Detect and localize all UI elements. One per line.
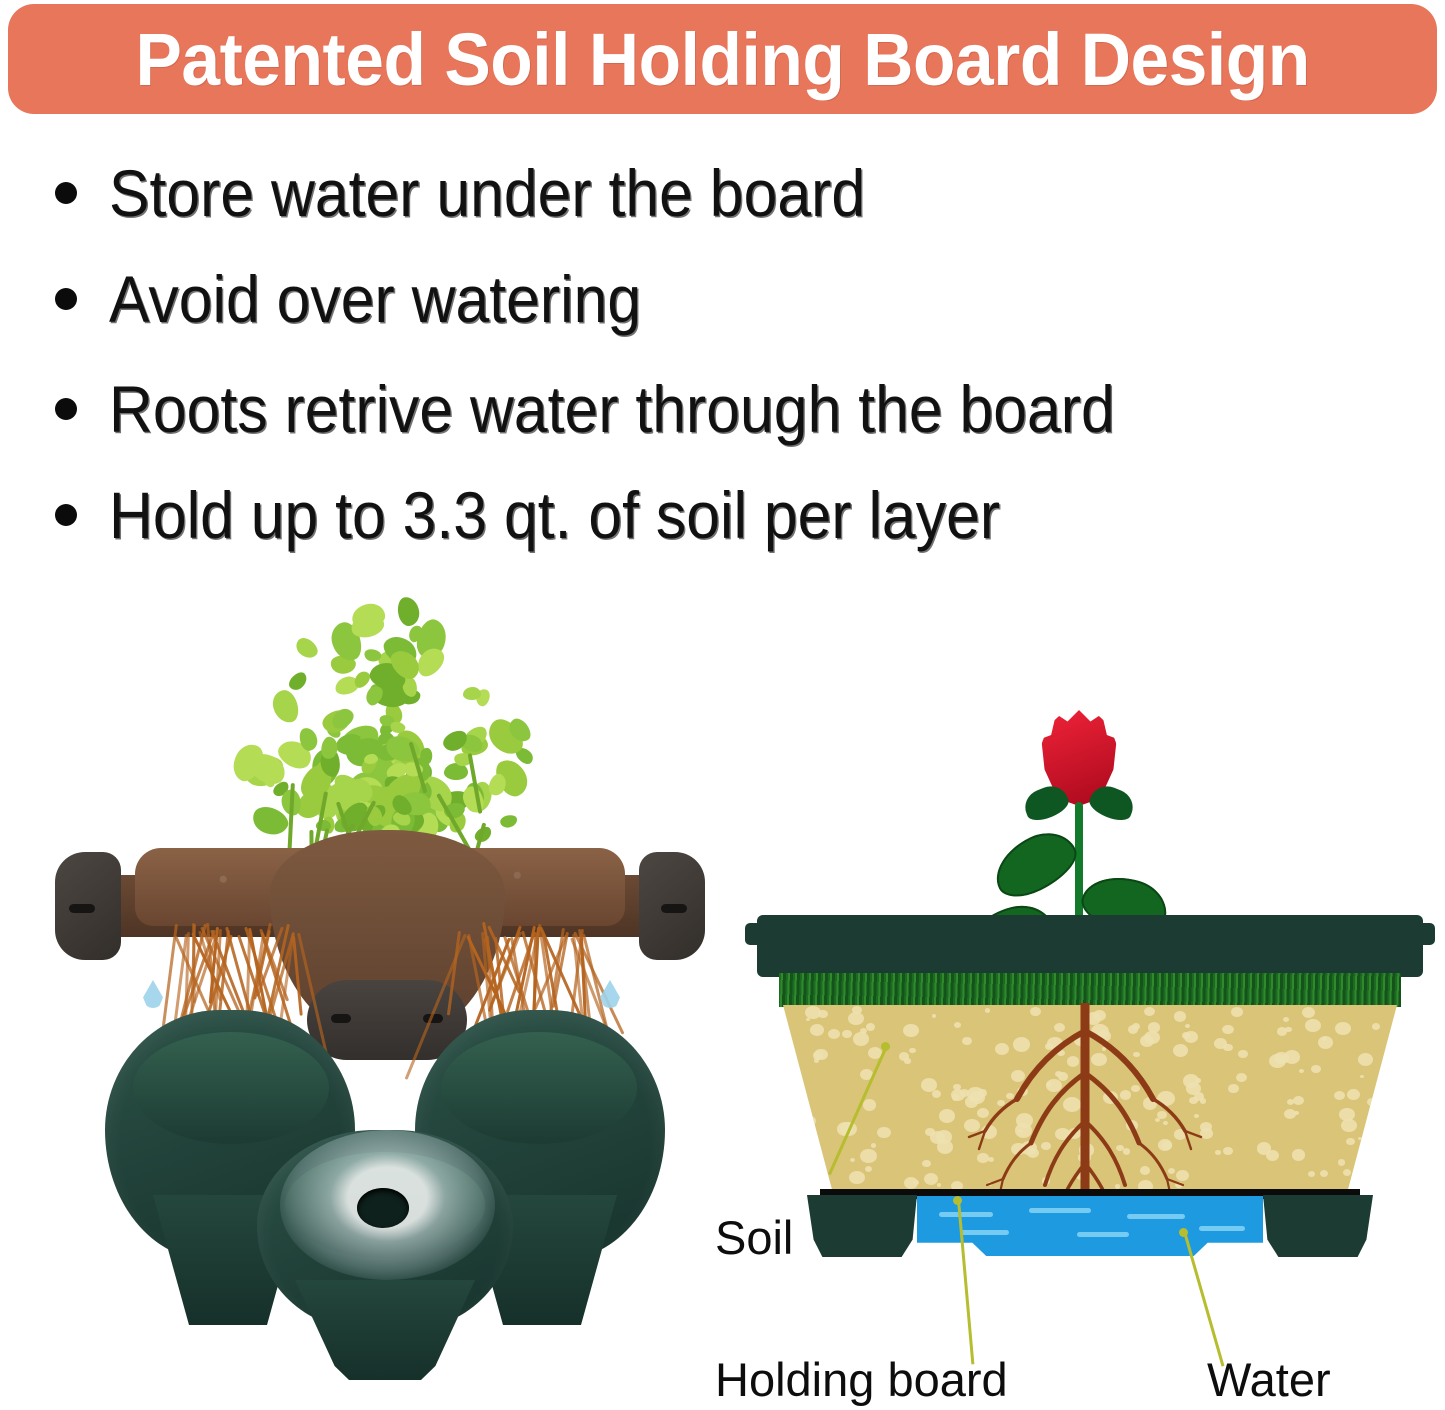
grass-layer: [779, 973, 1401, 1007]
soil-speck: [909, 1048, 916, 1054]
soil-speck: [797, 1144, 809, 1154]
soil-speck: [1311, 1065, 1321, 1074]
feature-text: Roots retrive water through the board: [109, 371, 1115, 447]
leaf-blob: [499, 813, 518, 828]
figures-area: Soil Holding board Water: [0, 575, 1445, 1405]
water-wave: [1029, 1208, 1091, 1213]
soil-speck: [800, 1152, 810, 1160]
soil-speck: [1283, 1017, 1289, 1022]
product-photo-stacking-planter: [50, 580, 710, 1380]
soil-speck: [903, 1024, 918, 1037]
soil-speck: [1381, 1068, 1389, 1075]
soil-speck: [1318, 1036, 1333, 1049]
soil-speck: [1358, 1137, 1362, 1140]
board-slot-icon: [69, 904, 95, 913]
soil-speck: [1343, 1169, 1351, 1176]
leaf-blob: [463, 687, 481, 700]
soil-speck: [1285, 1027, 1291, 1032]
soil-speck: [848, 1012, 864, 1025]
list-item: Roots retrive water through the board: [55, 361, 1202, 457]
planter-lobe-rim-right: [441, 1032, 637, 1144]
cross-section-diagram: Soil Holding board Water: [735, 580, 1445, 1410]
soil-speck: [1299, 1069, 1304, 1073]
soil-speck: [899, 1052, 909, 1061]
soil-speck: [1360, 1143, 1366, 1148]
soil-speck: [1346, 1138, 1354, 1145]
soil-speck: [810, 1024, 824, 1036]
rose-leaf: [985, 822, 1085, 906]
water-reservoir-layer: [917, 1196, 1263, 1256]
soil-speck: [801, 1109, 809, 1115]
leader-line-water: [1183, 1231, 1224, 1366]
label-holding-board: Holding board: [715, 1352, 1008, 1407]
soil-speck: [877, 1127, 890, 1138]
soil-speck: [1292, 1149, 1306, 1161]
soil-speck: [1320, 1170, 1328, 1177]
water-wave: [939, 1212, 993, 1217]
board-end-cap-left: [55, 852, 121, 960]
bullet-dot-icon: [55, 398, 77, 420]
leaf-blob: [270, 688, 302, 726]
feature-text: Hold up to 3.3 qt. of soil per layer: [109, 477, 1000, 553]
soil-speck: [904, 1177, 918, 1189]
soil-speck: [842, 1030, 852, 1039]
soil-speck: [1302, 1007, 1315, 1018]
water-wave: [1077, 1232, 1129, 1237]
soil-speck: [860, 1149, 877, 1163]
soil-speck: [804, 1116, 815, 1126]
soil-speck: [1287, 1099, 1294, 1105]
header-banner: Patented Soil Holding Board Design: [8, 4, 1437, 114]
water-wave: [1127, 1214, 1185, 1219]
leaf-blob: [292, 634, 320, 662]
soil-speck: [1294, 1111, 1298, 1115]
pot-cross-section: [745, 915, 1435, 1245]
stacking-planter-body: [105, 980, 665, 1380]
soil-speck: [1341, 1119, 1357, 1132]
list-item: Avoid over watering: [55, 251, 687, 347]
soil-speck: [849, 1171, 865, 1184]
soil-speck: [1266, 1150, 1280, 1162]
list-item: Hold up to 3.3 qt. of soil per layer: [55, 467, 1078, 563]
soil-speck: [853, 1032, 869, 1046]
soil-speck: [850, 1158, 855, 1162]
bullet-dot-icon: [55, 504, 77, 526]
page-title: Patented Soil Holding Board Design: [135, 17, 1309, 102]
soil-speck: [1372, 1023, 1380, 1030]
pot-foot-right: [1263, 1195, 1373, 1257]
soil-speck: [813, 1051, 823, 1059]
soil-speck: [828, 1029, 840, 1039]
soil-speck: [1347, 1089, 1360, 1100]
feature-list: Store water under the board Avoid over w…: [0, 145, 1445, 575]
list-item: Store water under the board: [55, 145, 931, 241]
drain-hole: [357, 1188, 409, 1228]
planter-lobe-rim-left: [133, 1032, 329, 1144]
soil-speck: [871, 1143, 877, 1148]
soil-speck: [806, 1018, 810, 1021]
label-soil: Soil: [715, 1210, 793, 1265]
planter-cone-front: [295, 1280, 475, 1380]
soil-speck: [818, 1010, 828, 1019]
board-end-cap-right: [639, 852, 705, 960]
soil-speck: [1338, 1159, 1345, 1165]
leaf-blob: [397, 596, 422, 628]
feature-text: Avoid over watering: [109, 261, 641, 337]
water-wave: [961, 1230, 1009, 1235]
soil-speck: [1293, 1096, 1304, 1105]
board-slot-icon: [661, 904, 687, 913]
bullet-dot-icon: [55, 182, 77, 204]
soil-speck: [1358, 1053, 1373, 1066]
feature-text: Store water under the board: [109, 155, 865, 231]
water-wave: [1199, 1226, 1245, 1231]
leaf-blob: [285, 669, 309, 693]
soil-speck: [1308, 1171, 1315, 1177]
soil-speck: [863, 1099, 877, 1111]
soil-speck: [1374, 1094, 1380, 1099]
bullet-dot-icon: [55, 288, 77, 310]
label-water: Water: [1207, 1352, 1331, 1407]
soil-speck: [1367, 1098, 1377, 1106]
soil-speck: [866, 1023, 875, 1031]
soil-speck: [1335, 1022, 1350, 1035]
soil-speck: [865, 1166, 872, 1172]
soil-speck: [1334, 1091, 1345, 1100]
soil-speck: [1360, 1075, 1364, 1078]
soil-speck: [796, 1141, 803, 1147]
pot-foot-left: [807, 1195, 917, 1257]
pot-rim: [757, 915, 1423, 977]
soil-speck: [1305, 1019, 1321, 1032]
